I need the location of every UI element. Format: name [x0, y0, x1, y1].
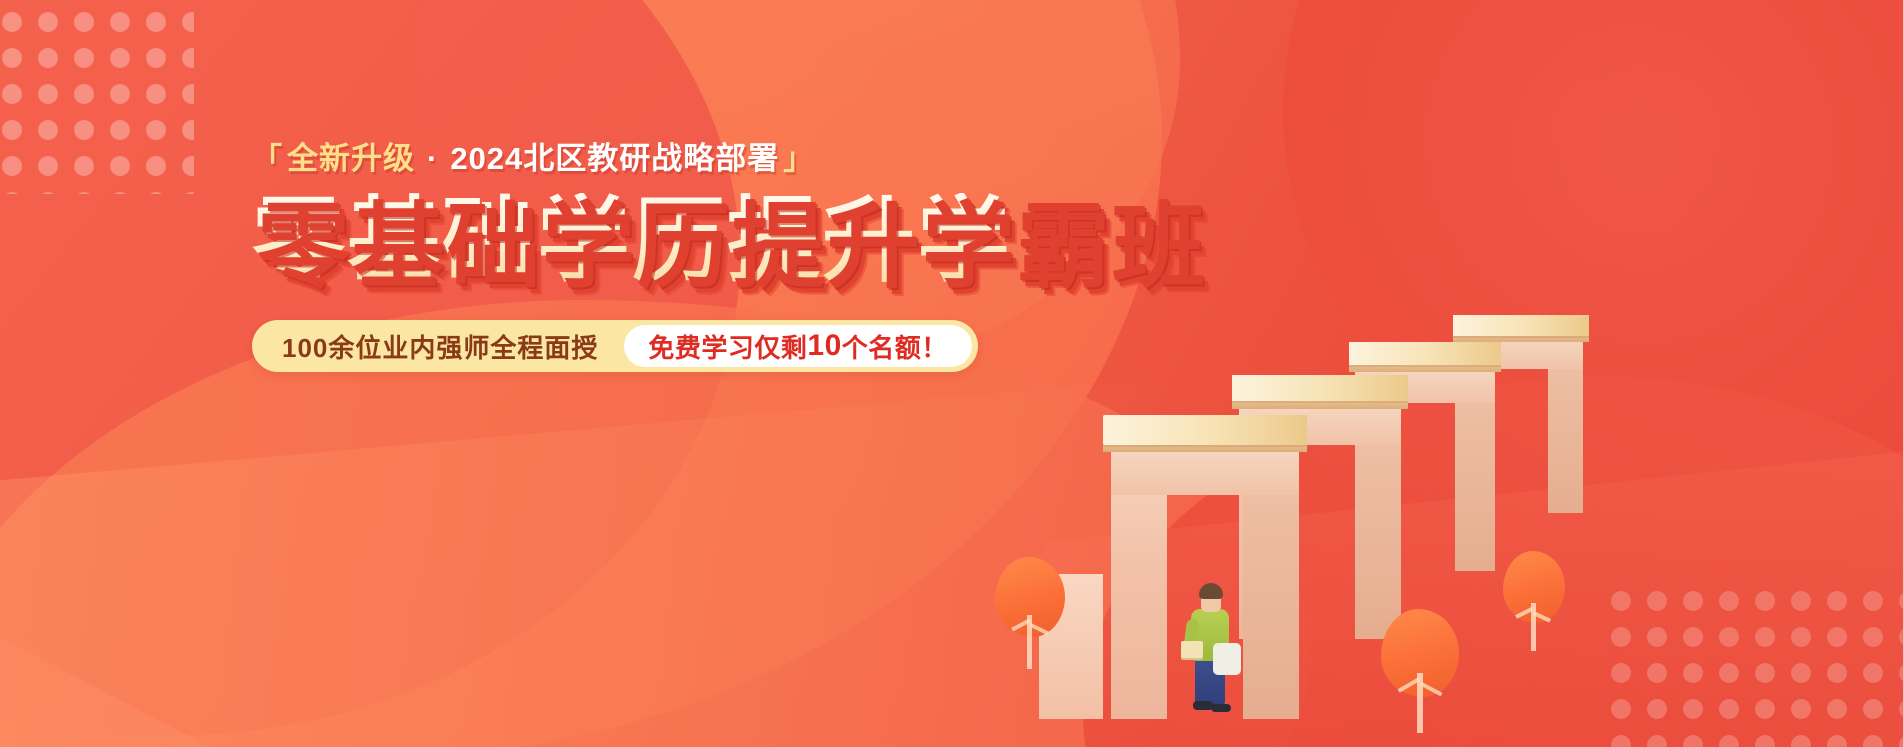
arch-cap	[1349, 342, 1501, 365]
arch-cap-side	[1232, 401, 1408, 409]
background-sheen	[0, 380, 1150, 747]
subtitle-highlight: 全新升级	[287, 140, 415, 179]
tree-icon-2	[1381, 609, 1459, 741]
arch-pillar-right	[1243, 457, 1299, 719]
arch-cap	[1232, 375, 1408, 401]
figure-hair	[1199, 583, 1223, 599]
figure-shoe-right	[1211, 704, 1231, 712]
bracket-close: 」	[783, 141, 814, 179]
seats-prefix: 免费学习仅剩	[648, 328, 807, 365]
tree-icon-1	[995, 557, 1065, 677]
arch-pillar-left	[1111, 457, 1167, 719]
background-corner-triangle	[0, 637, 210, 747]
figure-book	[1181, 641, 1203, 658]
seats-count: 10	[807, 329, 841, 363]
arch-pillar-right	[1548, 347, 1583, 513]
figure-bag	[1213, 643, 1241, 675]
seats-suffix: 个名额！	[842, 328, 948, 365]
arch-pillar-right	[1355, 415, 1401, 639]
arch-pillar-right	[1455, 377, 1495, 571]
arch-cap	[1103, 415, 1307, 445]
page-title: 零基础学历提升学霸班	[252, 193, 1012, 291]
figure-shoe-left	[1193, 701, 1213, 710]
background-wave-b	[0, 0, 802, 747]
feature-pill-group: 100余位业内强师全程面授 免费学习仅剩 10 个名额！	[252, 320, 978, 372]
tree-icon-3	[1503, 551, 1565, 655]
dot-pattern-top-left-icon	[0, 4, 194, 194]
subtitle-rest: 2024北区教研战略部署	[450, 140, 779, 179]
banner-subtitle: 「 全新升级 · 2024北区教研战略部署 」	[252, 140, 1012, 179]
banner-copy: 「 全新升级 · 2024北区教研战略部署 」 零基础学历提升学霸班 100余位…	[252, 140, 1012, 372]
student-figure-icon	[1179, 583, 1243, 713]
subtitle-separator: ·	[419, 140, 446, 179]
promo-banner: 「 全新升级 · 2024北区教研战略部署 」 零基础学历提升学霸班 100余位…	[0, 0, 1903, 747]
bracket-open: 「	[252, 141, 283, 179]
pill-seats-badge[interactable]: 免费学习仅剩 10 个名额！	[624, 325, 971, 367]
pill-teachers-label: 100余位业内强师全程面授	[252, 328, 624, 365]
arch-cap	[1453, 315, 1589, 336]
